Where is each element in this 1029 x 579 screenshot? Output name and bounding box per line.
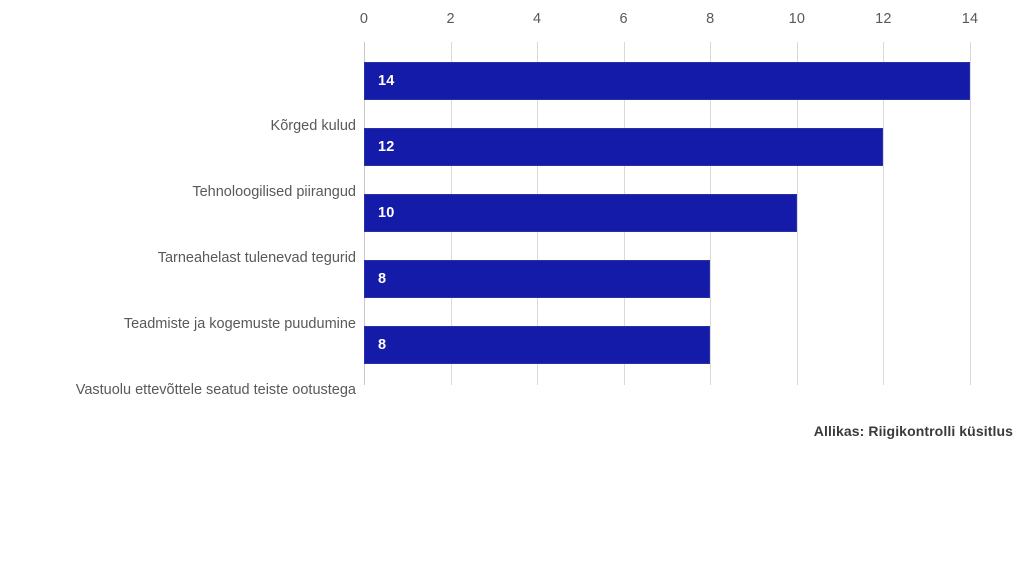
bar-value-label: 14 bbox=[378, 74, 395, 89]
y-axis: Kõrged kulud Tehnoloogilised piirangud T… bbox=[8, 42, 356, 385]
bar-value-label: 12 bbox=[378, 140, 395, 155]
category-label: Kõrged kulud bbox=[16, 119, 356, 134]
x-tick-label: 0 bbox=[360, 12, 368, 27]
category-label: Teadmiste ja kogemuste puudumine bbox=[16, 317, 356, 332]
x-tick-label: 4 bbox=[533, 12, 541, 27]
bar[interactable]: 10 bbox=[364, 194, 797, 232]
x-tick-label: 2 bbox=[446, 12, 454, 27]
x-tick-label: 12 bbox=[875, 12, 892, 27]
gridline-14 bbox=[970, 42, 971, 385]
category-label: Tarneahelast tulenevad tegurid bbox=[16, 251, 356, 266]
x-tick-label: 8 bbox=[706, 12, 714, 27]
bar-row: 10 bbox=[364, 194, 970, 232]
x-tick-label: 14 bbox=[962, 12, 979, 27]
source-note: Allikas: Riigikontrolli küsitlus bbox=[814, 423, 1013, 439]
bar-value-label: 8 bbox=[378, 338, 386, 353]
bar-row: 8 bbox=[364, 326, 970, 364]
x-tick-label: 6 bbox=[620, 12, 628, 27]
bar-chart: 0 2 4 6 8 10 12 14 Kõrged kulud Tehnoloo… bbox=[0, 0, 1029, 579]
bar-row: 8 bbox=[364, 260, 970, 298]
bar-value-label: 8 bbox=[378, 272, 386, 287]
x-tick-label: 10 bbox=[789, 12, 806, 27]
bar[interactable]: 14 bbox=[364, 62, 970, 100]
plot-area: 14 12 10 8 8 bbox=[364, 42, 970, 385]
bar-value-label: 10 bbox=[378, 206, 395, 221]
bar-row: 12 bbox=[364, 128, 970, 166]
category-label: Tehnoloogilised piirangud bbox=[16, 185, 356, 200]
bar[interactable]: 8 bbox=[364, 260, 710, 298]
bar[interactable]: 8 bbox=[364, 326, 710, 364]
bar[interactable]: 12 bbox=[364, 128, 883, 166]
category-label: Vastuolu ettevõttele seatud teiste ootus… bbox=[16, 383, 356, 398]
bar-row: 14 bbox=[364, 62, 970, 100]
